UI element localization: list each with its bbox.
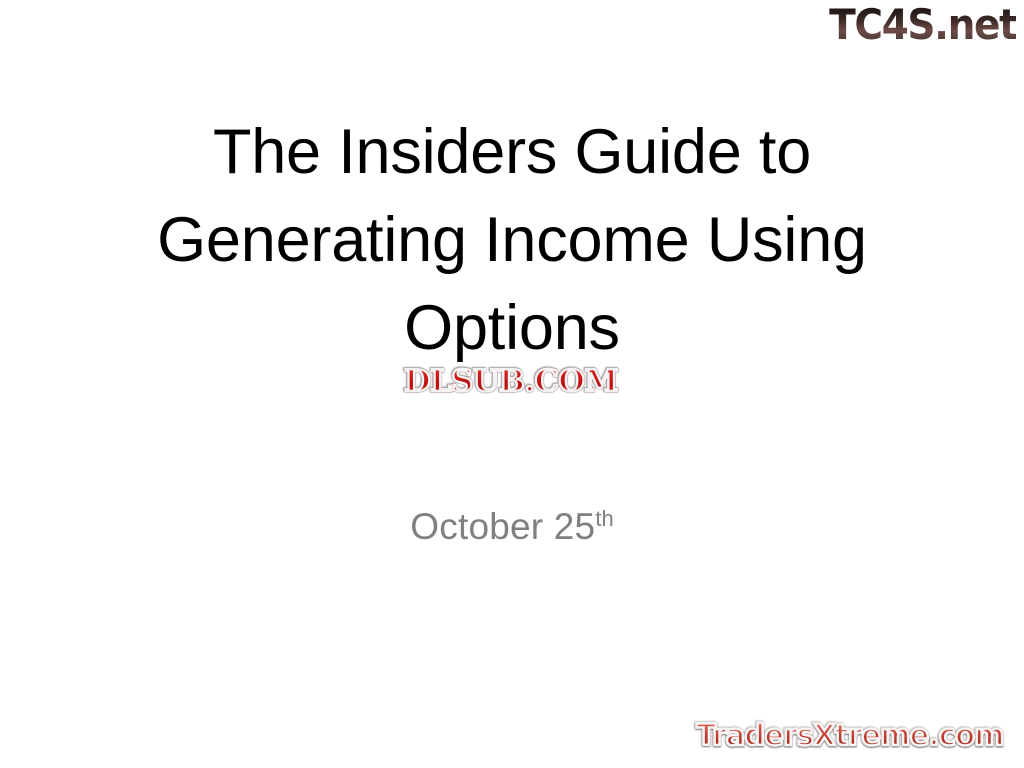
watermark-dlsub: DLSUB.COM <box>361 363 661 401</box>
watermark-tradersxtreme: TradersXtreme.com <box>686 716 1014 756</box>
slide-title-line-1: The Insiders Guide to <box>62 108 962 196</box>
slide-subtitle-date-ordinal: th <box>595 506 613 531</box>
slide-title: The Insiders Guide to Generating Income … <box>62 108 962 372</box>
watermark-tradersxtreme-label: TradersXtreme.com <box>686 716 1014 754</box>
watermark-tc4s-logo: TC4S.net <box>829 2 1016 48</box>
presentation-title-slide: TC4S.net The Insiders Guide to Generatin… <box>0 0 1024 768</box>
slide-title-line-3: Options <box>62 284 962 372</box>
slide-subtitle-date: October 25 <box>410 506 595 547</box>
slide-title-line-2: Generating Income Using <box>62 196 962 284</box>
watermark-dlsub-label: DLSUB.COM <box>358 363 664 401</box>
slide-subtitle: October 25th <box>62 505 962 549</box>
